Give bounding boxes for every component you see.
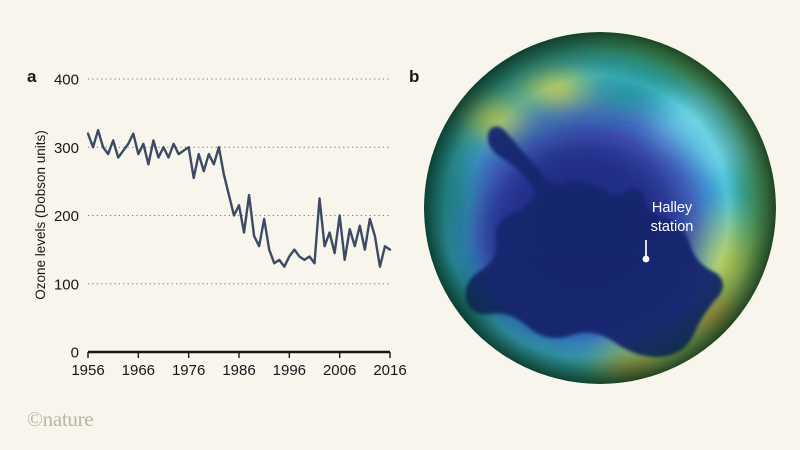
globe-limb-shading <box>424 32 776 384</box>
yellow-patch-upper-left <box>446 88 538 148</box>
panel-a-ozone-chart: a 0100200300400 195619661976198619962006… <box>0 0 410 450</box>
x-tick-2016: 2016 <box>373 362 406 379</box>
y-tick-100: 100 <box>54 276 79 293</box>
teal-edge-top <box>570 58 690 126</box>
chart-x-axis <box>88 352 390 358</box>
northern-green-wash <box>382 10 682 206</box>
antarctic-peninsula <box>488 127 548 192</box>
cyan-tongue-upper-right <box>636 74 752 166</box>
halley-station-marker <box>643 256 650 263</box>
chart-x-tick-labels: 1956196619761986199620062016 <box>71 362 406 379</box>
x-tick-1976: 1976 <box>172 362 205 379</box>
chart-y-axis-label: Ozone levels (Dobson units) <box>33 130 48 300</box>
nature-credit: ©nature <box>27 407 93 432</box>
teal-edge-left <box>412 118 492 274</box>
y-tick-300: 300 <box>54 140 79 157</box>
x-tick-2006: 2006 <box>323 362 356 379</box>
ozone-hole-core <box>462 120 714 344</box>
halley-station-label-line2: station <box>651 219 694 235</box>
ozone-line-chart: 0100200300400 19561966197619861996200620… <box>0 0 410 450</box>
y-tick-200: 200 <box>54 208 79 225</box>
x-tick-1996: 1996 <box>273 362 306 379</box>
chart-y-tick-labels: 0100200300400 <box>54 72 79 362</box>
ozone-hole-inner <box>482 156 674 332</box>
yellow-band-lower-right <box>678 194 782 342</box>
orange-anomaly-lower-right <box>663 270 764 365</box>
x-tick-1956: 1956 <box>71 362 104 379</box>
x-tick-1986: 1986 <box>222 362 255 379</box>
orange-anomaly-bottom <box>584 354 680 390</box>
halley-station-annotation: Halley station <box>643 200 694 262</box>
teal-edge-lower-left <box>426 254 514 346</box>
globe-colour-field <box>382 10 782 398</box>
yellow-patch-top <box>504 62 608 114</box>
halley-station-label-line1: Halley <box>652 200 693 216</box>
cyan-patch-right <box>682 116 766 188</box>
y-tick-400: 400 <box>54 72 79 89</box>
yellow-band-bottom <box>580 314 752 398</box>
antarctica-continent <box>466 181 723 357</box>
y-tick-0: 0 <box>71 345 79 362</box>
ozone-colour-ramp <box>424 32 776 384</box>
ozone-data-line <box>88 130 390 267</box>
x-tick-1966: 1966 <box>122 362 155 379</box>
figure-root: a 0100200300400 195619661976198619962006… <box>0 0 800 450</box>
panel-label-b: b <box>409 68 419 85</box>
